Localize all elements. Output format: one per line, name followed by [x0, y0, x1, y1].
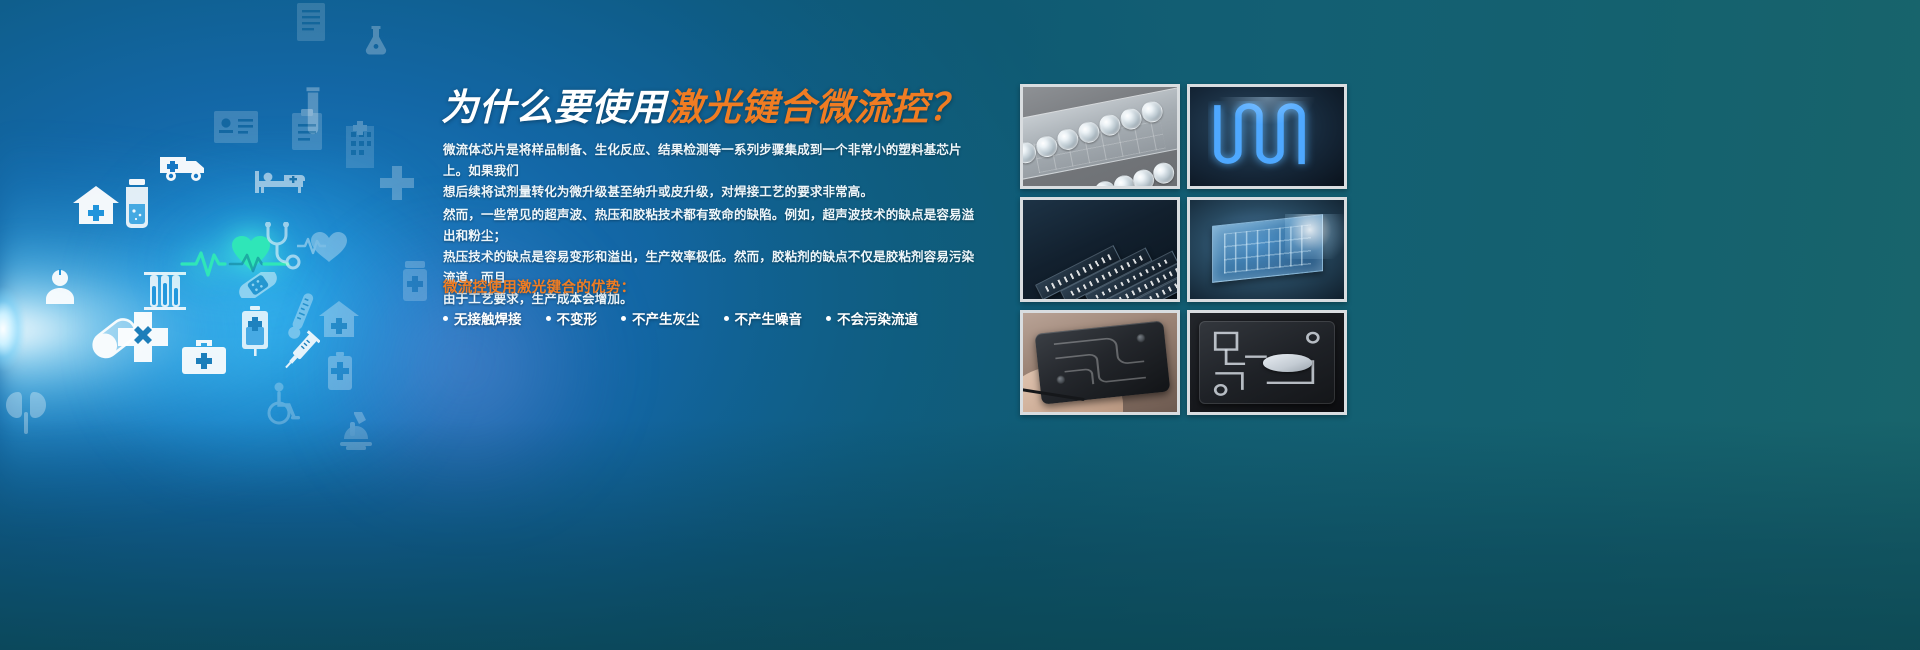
stethoscope-icon	[260, 222, 302, 270]
advantage-label: 不产生噪音	[735, 308, 803, 328]
thermometer-icon	[288, 290, 314, 342]
promo-banner: 为什么要使用激光键合微流控？ 微流体芯片是将样品制备、生化反应、结果检测等一系列…	[0, 0, 1920, 650]
gallery-image-blue-molded-block[interactable]	[1187, 197, 1347, 302]
gallery-image-black-cassette-with-chamber[interactable]	[1187, 310, 1347, 415]
product-image-gallery	[1020, 84, 1347, 415]
ambulance-icon	[158, 150, 210, 184]
bullet-dot-icon	[621, 316, 626, 321]
id-card-icon	[213, 110, 259, 144]
beam-source	[0, 286, 26, 372]
paragraph-line-1: 微流体芯片是将样品制备、生化反应、结果检测等一系列步骤集成到一个非常小的塑料基芯…	[443, 140, 978, 182]
house-cross-icon	[318, 300, 360, 338]
advantages-list: 无接触焊接 不变形 不产生灰尘 不产生噪音 不会污染流道	[443, 308, 983, 328]
beam-cone-inner	[0, 205, 400, 455]
test-tube-icon	[300, 86, 326, 138]
text-column: 为什么要使用激光键合微流控？ 微流体芯片是将样品制备、生化反应、结果检测等一系列…	[441, 0, 986, 650]
flask-icon	[358, 18, 394, 64]
iv-bag-icon	[238, 305, 272, 357]
gallery-image-dark-slide-array[interactable]	[1020, 197, 1180, 302]
bullet-dot-icon	[826, 316, 831, 321]
cross-box-icon	[116, 310, 170, 364]
home-cross-icon	[72, 185, 120, 225]
headline-accent: 激光键合微流控	[666, 87, 929, 128]
bandage-icon	[236, 272, 280, 298]
advantage-label: 不会污染流道	[837, 308, 918, 328]
pill-bottle-icon	[400, 260, 430, 302]
cross-icon	[378, 164, 416, 202]
list-item: 无接触焊接	[443, 308, 522, 328]
advantage-label: 不变形	[557, 308, 598, 328]
list-item: 不产生灰尘	[621, 308, 700, 328]
hospital-bed-icon	[254, 165, 306, 195]
wheelchair-icon	[262, 382, 302, 426]
microscope-icon	[336, 410, 376, 454]
bullet-dot-icon	[443, 316, 448, 321]
headline-prefix: 为什么要使用	[441, 87, 666, 128]
kidney-icon	[2, 390, 50, 436]
doctor-icon	[44, 268, 76, 306]
heartbeat-icon	[296, 228, 354, 264]
cyan-glow	[95, 155, 495, 485]
gallery-image-serpentine-channel-chip[interactable]	[1187, 84, 1347, 189]
clipboard-icon	[290, 108, 324, 152]
gallery-image-microfluidic-chip-bead-row[interactable]	[1020, 84, 1180, 189]
bullet-dot-icon	[546, 316, 551, 321]
battery-icon	[326, 352, 354, 392]
pill-icon	[90, 318, 140, 360]
paragraph-line-2: 想后续将试剂量转化为微升级甚至纳升或皮升级，对焊接工艺的要求非常高。	[443, 182, 978, 203]
advantage-label: 不产生灰尘	[632, 308, 700, 328]
syringe-icon	[280, 330, 320, 374]
document-icon	[296, 2, 326, 42]
test-tube-rack-icon	[142, 270, 188, 312]
headline-question-mark: ？	[929, 87, 967, 128]
hospital-building-icon	[344, 120, 376, 170]
bullet-dot-icon	[724, 316, 729, 321]
advantage-label: 无接触焊接	[454, 308, 522, 328]
bottle-icon	[118, 178, 156, 230]
paragraph-line-3: 然而，一些常见的超声波、热压和胶粘技术都有致命的缺陷。例如，超声波技术的缺点是容…	[443, 205, 978, 247]
advantages-title: 微流控使用激光键合的优势：	[443, 276, 635, 297]
gallery-image-flexible-black-chip-in-hand[interactable]	[1020, 310, 1180, 415]
list-item: 不会污染流道	[826, 308, 918, 328]
list-item: 不产生噪音	[724, 308, 803, 328]
page-title: 为什么要使用激光键合微流控？	[441, 86, 966, 130]
first-aid-kit-icon	[180, 338, 228, 376]
list-item: 不变形	[546, 308, 598, 328]
